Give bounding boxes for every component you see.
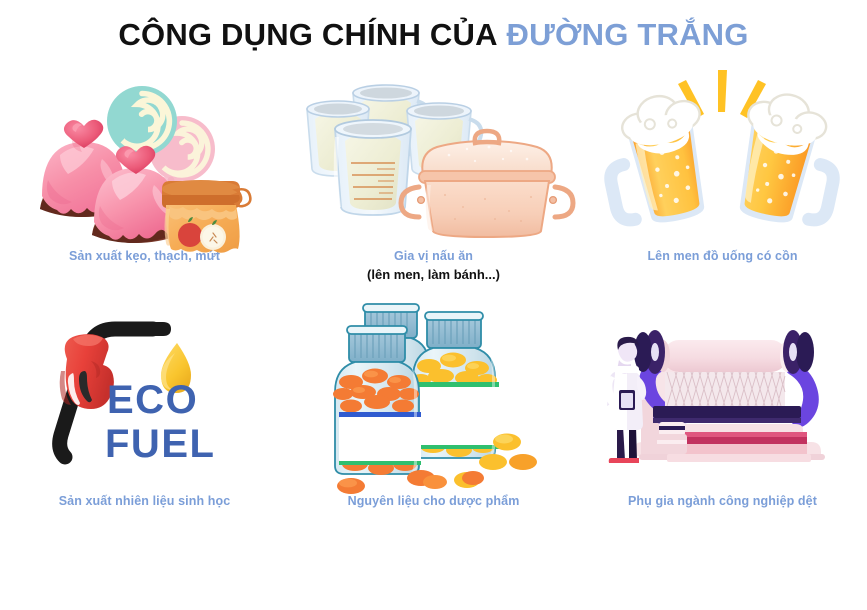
caption-block: Sản xuất nhiên liệu sinh học [0, 493, 289, 510]
cooking-illustration-svg [299, 67, 569, 237]
textile-illustration-svg [597, 314, 849, 474]
use-caption: Sản xuất nhiên liệu sinh học [0, 493, 289, 510]
candy-illustration-svg [30, 59, 260, 245]
jam-jar-icon [162, 180, 250, 253]
use-card-alcoholic-fermentation: Lên men đồ uống có cồn [578, 58, 867, 296]
page-title: CÔNG DỤNG CHÍNH CỦA ĐƯỜNG TRẮNG [0, 16, 867, 54]
uses-grid: Sản xuất kẹo, thạch, mứt [0, 58, 867, 603]
caption-block: Nguyên liệu cho dược phẩm [289, 493, 578, 510]
use-card-candy-jelly-jam: Sản xuất kẹo, thạch, mứt [0, 58, 289, 296]
caption-block: Gia vị nấu ăn (lên men, làm bánh...) [289, 248, 578, 284]
use-caption: Nguyên liệu cho dược phẩm [289, 493, 578, 510]
use-caption: Sản xuất kẹo, thạch, mứt [0, 248, 289, 265]
ecofuel-illustration-svg: ECO FUEL [25, 309, 265, 479]
pharma-illustration-svg [321, 294, 546, 494]
eco-fuel-logo-line1: ECO [107, 378, 198, 422]
page-title-dark-part: CÔNG DỤNG CHÍNH CỦA [118, 17, 497, 52]
medicine-bottle-right-icon [411, 312, 499, 459]
loom-warp-threads-icon [665, 372, 785, 406]
use-card-textile-industry-additive: Phụ gia ngành công nghiệp dệt [578, 296, 867, 534]
use-subcaption: (lên men, làm bánh...) [289, 266, 578, 284]
use-caption: Lên men đồ uống có cồn [578, 248, 867, 265]
eco-fuel-nozzle-icon: ECO FUEL [0, 296, 289, 491]
measuring-cups-and-cooking-pot-icon [289, 58, 578, 246]
use-caption: Gia vị nấu ăn [289, 248, 578, 265]
use-card-biofuel-production: ECO FUEL Sản xuất nhiên liệu sinh học [0, 296, 289, 534]
medicine-bottles-with-pills-icon [289, 296, 578, 491]
loom-top-roller-icon [634, 330, 814, 374]
textile-loom-machine-with-worker-icon [578, 296, 867, 491]
beer-illustration-svg [610, 62, 835, 242]
fabric-stack-icon [667, 424, 811, 462]
infographic-page: CÔNG DỤNG CHÍNH CỦA ĐƯỜNG TRẮNG [0, 0, 867, 610]
page-title-blue-part: ĐƯỜNG TRẮNG [507, 17, 749, 52]
caption-block: Lên men đồ uống có cồn [578, 248, 867, 265]
caption-block: Sản xuất kẹo, thạch, mứt [0, 248, 289, 265]
eco-fuel-logo-line2: FUEL [105, 422, 215, 466]
fabric-roll-icon [657, 422, 687, 454]
candy-cakes-lollipops-jam-jar-icon [0, 58, 289, 246]
use-card-cooking-seasoning: Gia vị nấu ăn (lên men, làm bánh...) [289, 58, 578, 296]
caption-block: Phụ gia ngành công nghiệp dệt [578, 493, 867, 510]
two-beer-mugs-toasting-icon [578, 58, 867, 246]
use-card-pharmaceutical-raw-material: Nguyên liệu cho dược phẩm [289, 296, 578, 534]
use-caption: Phụ gia ngành công nghiệp dệt [578, 493, 867, 510]
